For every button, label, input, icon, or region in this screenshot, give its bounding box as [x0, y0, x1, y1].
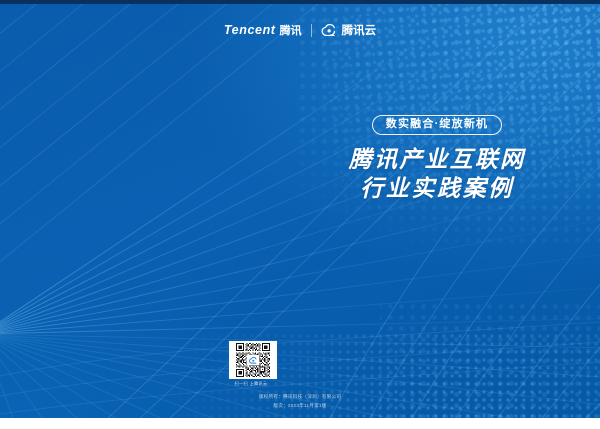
title-line-1: 腾讯产业互联网	[321, 145, 553, 174]
dot-matrix-pattern	[0, 4, 600, 418]
tencent-cloud-icon	[321, 24, 338, 37]
cover-title-block: 数实融合·绽放新机 腾讯产业互联网 行业实践案例	[321, 114, 553, 204]
tencent-cloud-logo-cjk: 腾讯云	[342, 22, 377, 38]
brochure-cover: Tencent 腾讯 腾讯云 数实融合·绽放新机 腾讯产业互联网 行业实践案例	[0, 0, 600, 429]
tencent-logo-cjk: 腾讯	[280, 22, 302, 38]
page-title: 腾讯产业互联网 行业实践案例	[321, 145, 553, 204]
title-line-2: 行业实践案例	[321, 174, 553, 203]
logo-divider	[311, 24, 312, 37]
bottom-paper-margin	[0, 418, 600, 429]
qr-caption: 扫一扫 上腾讯云	[225, 381, 277, 387]
tencent-cloud-logo: 腾讯云	[321, 22, 377, 38]
tagline-badge: 数实融合·绽放新机	[372, 115, 502, 135]
top-edge-strip	[0, 0, 600, 4]
tencent-logo: Tencent 腾讯	[224, 22, 302, 38]
edition-line: 版次：2023年11月第1版	[0, 402, 600, 411]
copyright-credits: 版权所有：腾讯科技（深圳）有限公司 版次：2023年11月第1版	[0, 393, 600, 410]
copyright-line: 版权所有：腾讯科技（深圳）有限公司	[0, 393, 600, 402]
qr-center-logo	[247, 355, 259, 365]
tencent-cloud-icon	[249, 357, 258, 364]
qr-code[interactable]	[229, 341, 277, 379]
brand-logo-row: Tencent 腾讯 腾讯云	[0, 22, 600, 38]
qr-code-block: 扫一扫 上腾讯云	[227, 341, 279, 387]
tencent-logo-latin: Tencent	[224, 23, 276, 37]
cover-page-background: Tencent 腾讯 腾讯云 数实融合·绽放新机 腾讯产业互联网 行业实践案例	[0, 4, 600, 418]
